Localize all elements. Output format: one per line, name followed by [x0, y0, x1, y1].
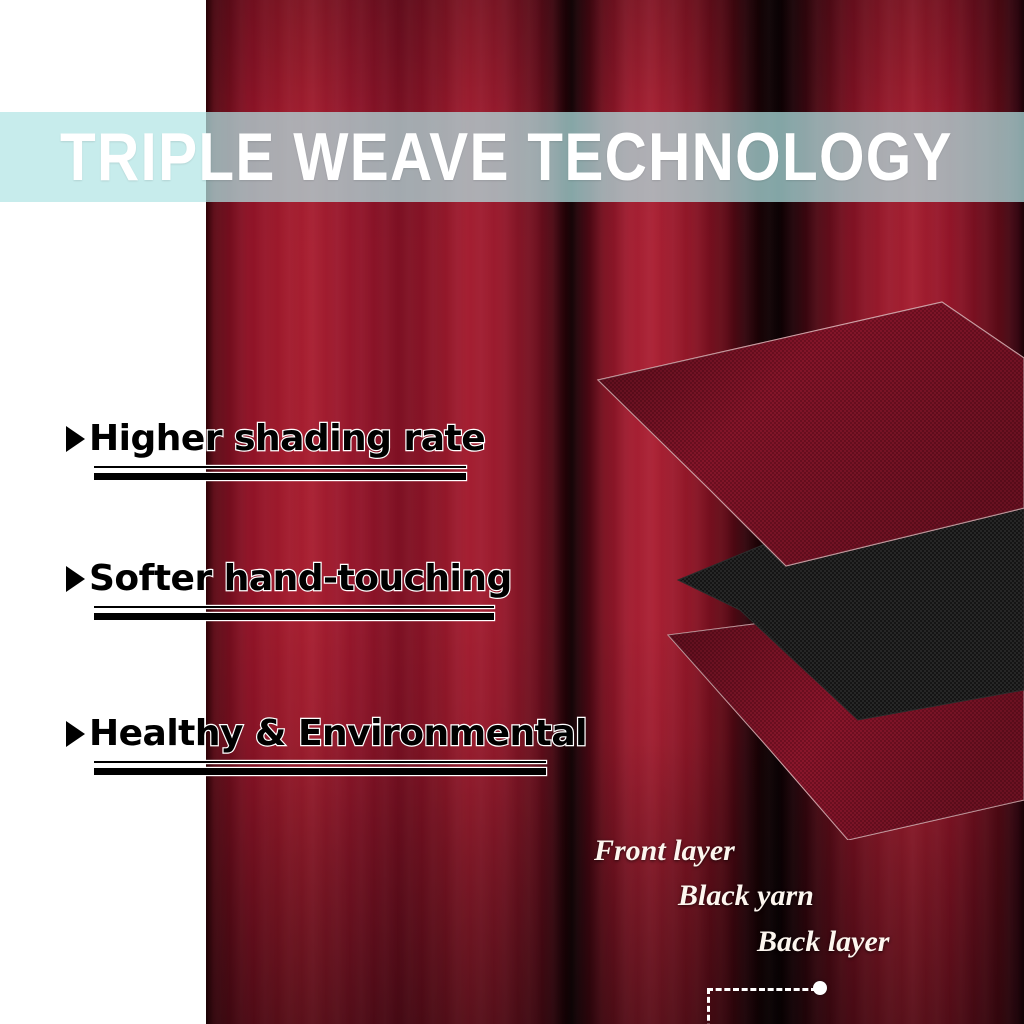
- headline-title: TRIPLE WEAVE TECHNOLOGY: [60, 112, 868, 202]
- leader-h-front-layer: [707, 988, 817, 991]
- feature-3-rule-thin: [94, 761, 546, 763]
- leader-v-front-layer: [707, 988, 710, 1024]
- callout-label-front-layer: Front layer: [594, 834, 735, 868]
- product-feature-image: TRIPLE WEAVE TECHNOLOGY Higher shading r…: [0, 0, 1024, 1024]
- feature-1-rule-thick: [94, 473, 466, 480]
- feature-2-label: Softer hand-touching: [89, 558, 512, 599]
- fabric-layer-diagram: [590, 280, 1024, 840]
- feature-2-rule-thin: [94, 606, 494, 608]
- feature-1-line: Higher shading rate: [66, 418, 485, 459]
- triangle-right-icon: [66, 721, 85, 747]
- feature-1-label: Higher shading rate: [89, 418, 485, 459]
- triangle-right-icon: [66, 566, 85, 592]
- feature-2-rule-thick: [94, 613, 494, 620]
- feature-3-label: Healthy & Environmental: [89, 713, 587, 754]
- feature-1-rule-thin: [94, 466, 466, 468]
- feature-3-line: Healthy & Environmental: [66, 713, 587, 754]
- callout-label-black-yarn: Black yarn: [678, 879, 814, 913]
- feature-item-1: Higher shading rate: [66, 418, 485, 480]
- feature-3-rule-thick: [94, 768, 546, 775]
- fabric-layers-svg: [590, 280, 1024, 840]
- feature-item-2: Softer hand-touching: [66, 558, 512, 620]
- feature-3-rules: [94, 761, 546, 775]
- feature-2-rules: [94, 606, 494, 620]
- feature-1-rules: [94, 466, 466, 480]
- triangle-right-icon: [66, 426, 85, 452]
- callout-label-back-layer: Back layer: [757, 925, 889, 959]
- feature-2-line: Softer hand-touching: [66, 558, 512, 599]
- feature-item-3: Healthy & Environmental: [66, 713, 587, 775]
